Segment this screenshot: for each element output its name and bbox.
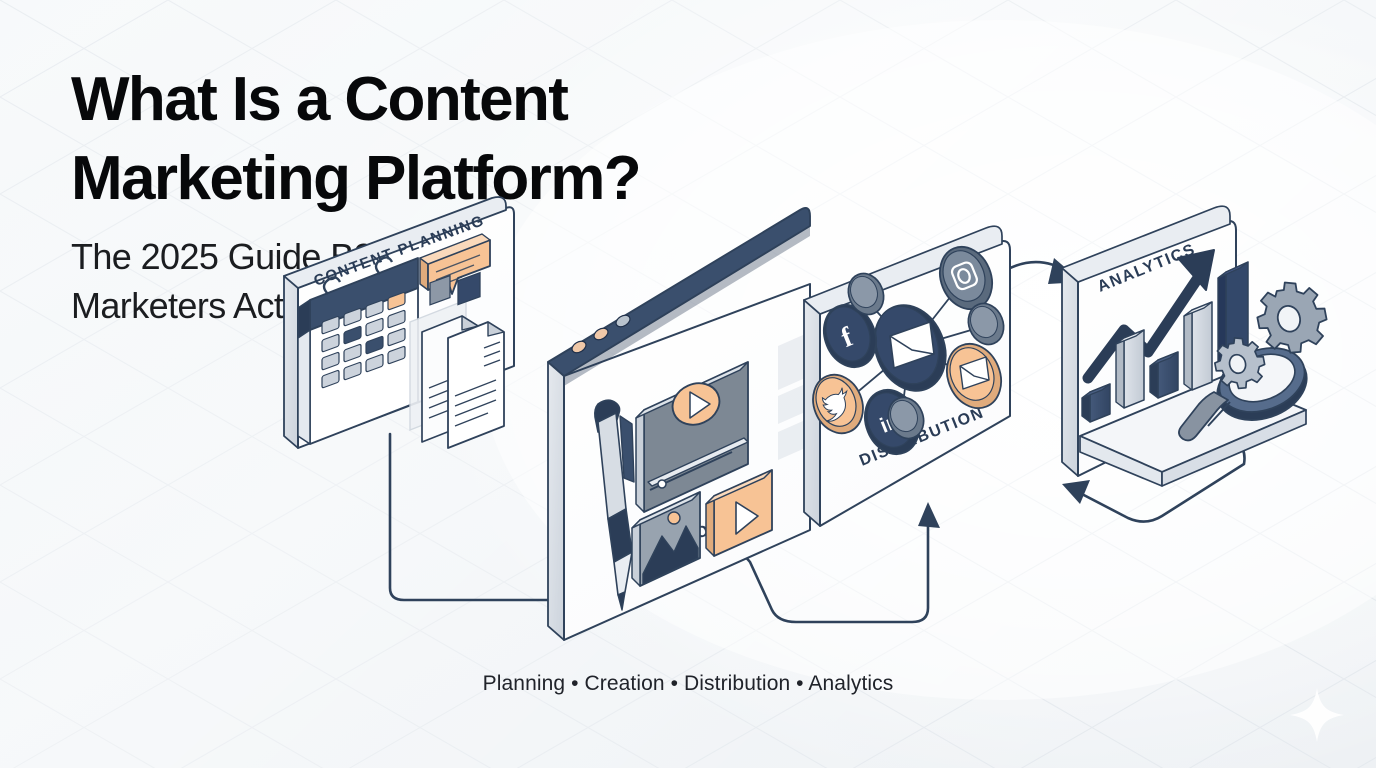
planning-panel-side [284, 276, 298, 448]
arrow-up-right-icon [1062, 480, 1090, 504]
analytics-panel-side [1062, 268, 1078, 476]
panel-creation[interactable]: CREATION [548, 208, 828, 640]
hero-graphic-canvas: What Is a Content Marketing Platform? Th… [0, 0, 1376, 768]
arrow-up-left-icon [918, 502, 940, 528]
workflow-illustration: CONTENT PLANNING [262, 196, 1362, 676]
stage-caption: Planning • Creation • Distribution • Ana… [0, 672, 1376, 696]
panel-planning[interactable]: CONTENT PLANNING [284, 197, 514, 448]
creation-panel-side [548, 362, 564, 640]
panel-distribution[interactable]: DISTRIBUTION [804, 226, 1010, 526]
headline-line-1: What Is a Content [71, 65, 567, 134]
panel-analytics[interactable]: ANALYTICS [1062, 206, 1334, 486]
page-title: What Is a Content Marketing Platform? [71, 60, 771, 219]
